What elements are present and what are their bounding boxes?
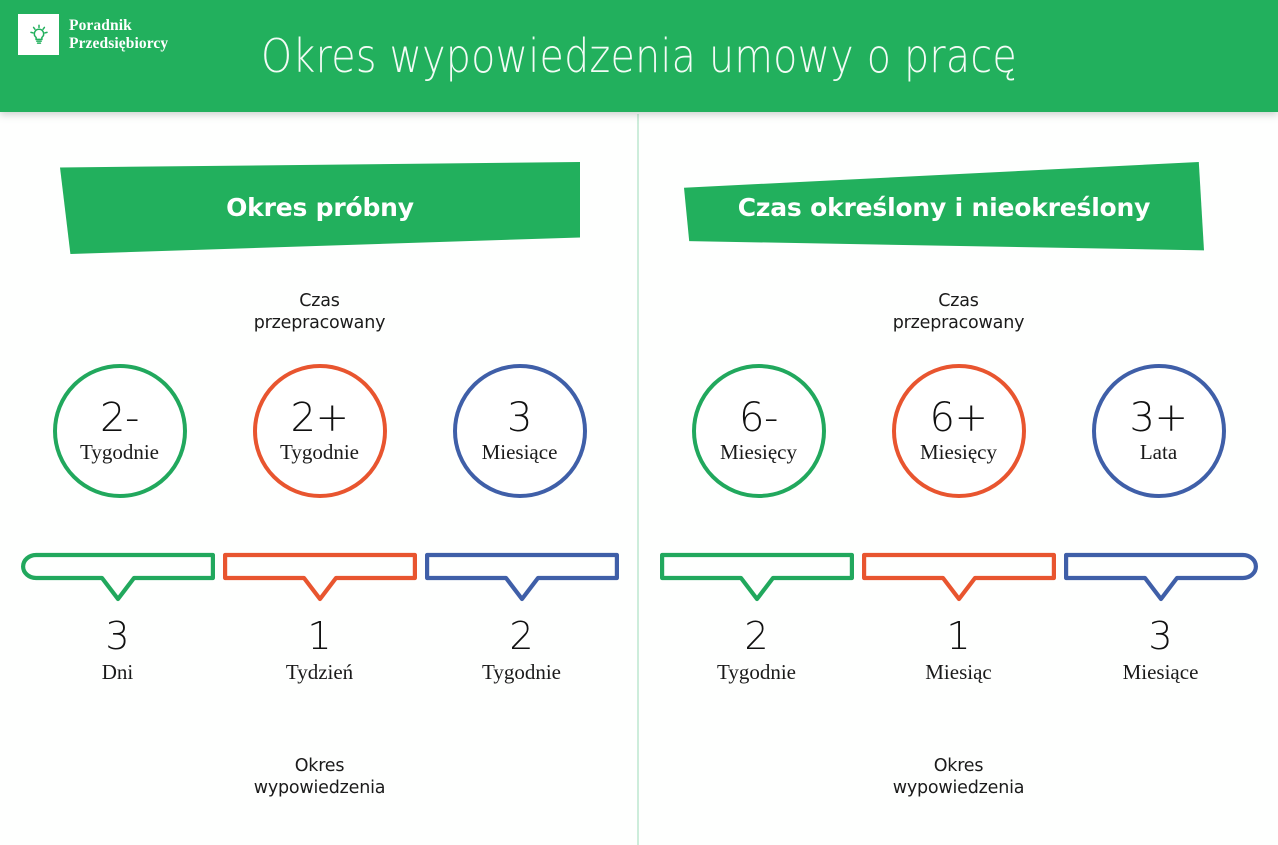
caption-worked-time-left: Czas przepracowany	[0, 290, 639, 334]
bracket-icon	[861, 552, 1057, 606]
worked-period-value: 6-	[739, 398, 778, 438]
bracket-icon	[222, 552, 418, 606]
page-title: Okres wypowiedzenia umowy o pracę	[89, 0, 1188, 112]
worked-period-circle: 3 Miesiące	[453, 364, 587, 498]
notice-period-value: 3	[1148, 616, 1172, 656]
worked-period-circle: 2+ Tygodnie	[253, 364, 387, 498]
brand-logo-group: Poradnik Przedsiębiorcy	[18, 14, 168, 55]
bracket-icon	[20, 552, 216, 606]
page-header: Poradnik Przedsiębiorcy Okres wypowiedze…	[0, 0, 1278, 112]
worked-period-unit: Tygodnie	[80, 440, 159, 464]
columns-container: Okres próbny Czas przepracowany 2- Tygod…	[0, 112, 1278, 845]
notice-period-item: 2 Tygodnie	[659, 552, 855, 684]
notice-period-item: 3 Dni	[20, 552, 216, 684]
notice-period-value: 1	[946, 616, 970, 656]
worked-period-circle: 3+ Lata	[1092, 364, 1226, 498]
worked-period-unit: Miesiące	[482, 440, 558, 464]
worked-period-circle: 6- Miesięcy	[692, 364, 826, 498]
worked-periods-row-right: 6- Miesięcy 6+ Miesięcy 3+ Lata	[639, 364, 1278, 498]
notice-period-item: 3 Miesiące	[1063, 552, 1259, 684]
worked-period-unit: Lata	[1140, 440, 1177, 464]
lightbulb-icon	[18, 14, 59, 55]
worked-period-circle: 6+ Miesięcy	[892, 364, 1026, 498]
bracket-icon	[424, 552, 620, 606]
notice-period-unit: Dni	[102, 660, 134, 684]
worked-period-value: 2-	[100, 398, 139, 438]
brand-name: Poradnik Przedsiębiorcy	[69, 17, 168, 53]
worked-period-value: 6+	[930, 398, 988, 438]
notice-period-item: 1 Miesiąc	[861, 552, 1057, 684]
notice-period-item: 2 Tygodnie	[424, 552, 620, 684]
worked-period-value: 3+	[1130, 398, 1188, 438]
notice-period-value: 2	[744, 616, 768, 656]
notice-period-item: 1 Tydzień	[222, 552, 418, 684]
section-banner-label-left: Okres próbny	[60, 162, 580, 254]
banner-wrap-left: Okres próbny	[0, 162, 639, 272]
column-okres-probny: Okres próbny Czas przepracowany 2- Tygod…	[0, 112, 639, 845]
section-banner-left: Okres próbny	[60, 162, 580, 254]
banner-wrap-right: Czas określony i nieokreślony	[639, 162, 1278, 272]
notice-period-unit: Tydzień	[286, 660, 353, 684]
caption-notice-period-left: Okres wypowiedzenia	[0, 755, 639, 799]
worked-period-value: 3	[507, 398, 532, 438]
bracket-icon	[659, 552, 855, 606]
column-czas-okreslony-i-nieokreslony: Czas określony i nieokreślony Czas przep…	[639, 112, 1278, 845]
notice-periods-row-right: 2 Tygodnie 1 Miesiąc 3 Miesiące	[639, 552, 1278, 684]
notice-period-value: 3	[105, 616, 129, 656]
bracket-icon	[1063, 552, 1259, 606]
worked-period-circle: 2- Tygodnie	[53, 364, 187, 498]
worked-period-value: 2+	[291, 398, 349, 438]
notice-period-unit: Tygodnie	[717, 660, 796, 684]
caption-worked-time-right: Czas przepracowany	[639, 290, 1278, 334]
infographic-page: Poradnik Przedsiębiorcy Okres wypowiedze…	[0, 0, 1278, 845]
notice-period-unit: Tygodnie	[482, 660, 561, 684]
notice-period-value: 2	[509, 616, 533, 656]
section-banner-label-right: Czas określony i nieokreślony	[684, 162, 1204, 254]
caption-notice-period-right: Okres wypowiedzenia	[639, 755, 1278, 799]
notice-period-unit: Miesiące	[1123, 660, 1199, 684]
section-banner-right: Czas określony i nieokreślony	[684, 162, 1204, 254]
worked-period-unit: Tygodnie	[280, 440, 359, 464]
column-divider	[637, 114, 639, 845]
worked-period-unit: Miesięcy	[920, 440, 997, 464]
worked-periods-row-left: 2- Tygodnie 2+ Tygodnie 3 Miesiące	[0, 364, 639, 498]
notice-periods-row-left: 3 Dni 1 Tydzień 2 Tygodnie	[0, 552, 639, 684]
notice-period-unit: Miesiąc	[925, 660, 991, 684]
worked-period-unit: Miesięcy	[720, 440, 797, 464]
notice-period-value: 1	[307, 616, 331, 656]
